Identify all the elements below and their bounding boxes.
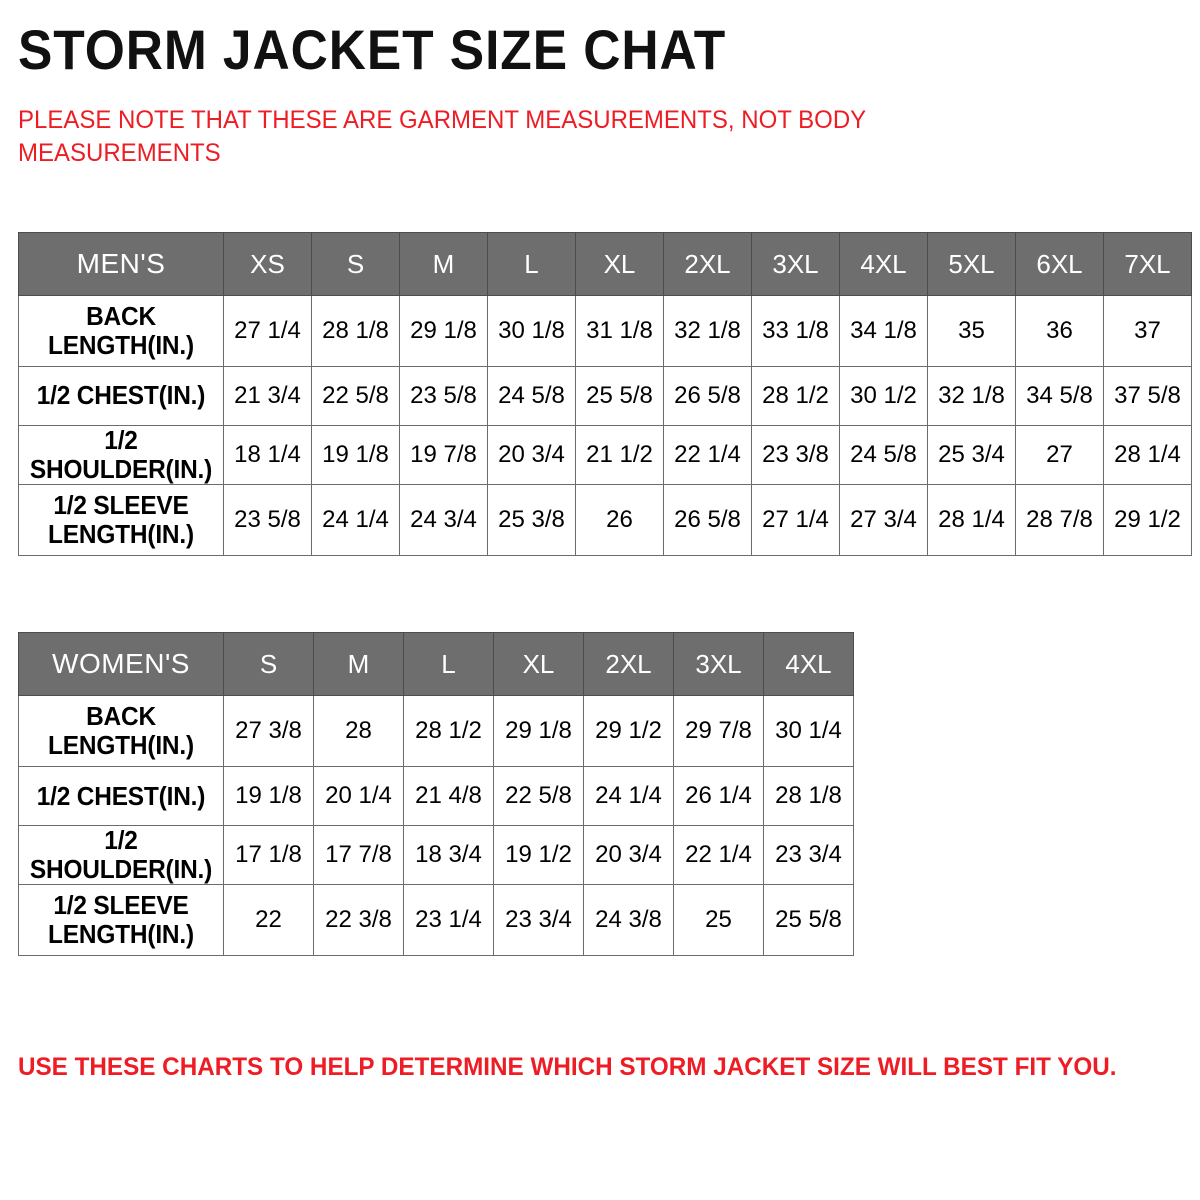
mens-cell-l: 25 3/8 [488,485,576,556]
mens-row-label: 1/2 SLEEVELENGTH(IN.) [19,485,224,556]
mens-cell-l: 24 5/8 [488,367,576,426]
mens-cell-3xl: 28 1/2 [752,367,840,426]
mens-size-header-7xl: 7XL [1104,233,1192,296]
row-label-line: LENGTH(IN.) [25,920,217,949]
womens-cell-l: 18 3/4 [404,826,494,885]
womens-cell-xl: 29 1/8 [494,696,584,767]
womens-table-row: 1/2 SLEEVELENGTH(IN.)2222 3/823 1/423 3/… [19,885,854,956]
row-label-line: LENGTH(IN.) [25,731,217,760]
womens-cell-s: 22 [224,885,314,956]
womens-cell-4xl: 25 5/8 [764,885,854,956]
mens-cell-m: 24 3/4 [400,485,488,556]
mens-size-header-m: M [400,233,488,296]
row-label-line: 1/2 SHOULDER(IN.) [25,426,217,484]
womens-cell-m: 17 7/8 [314,826,404,885]
womens-cell-3xl: 29 7/8 [674,696,764,767]
womens-table-head: WOMEN'SSMLXL2XL3XL4XL [19,633,854,696]
mens-cell-6xl: 28 7/8 [1016,485,1104,556]
mens-row-label: 1/2 CHEST(IN.) [19,367,224,426]
womens-cell-xl: 19 1/2 [494,826,584,885]
row-label-line: LENGTH(IN.) [25,520,217,549]
mens-cell-4xl: 24 5/8 [840,426,928,485]
mens-size-header-4xl: 4XL [840,233,928,296]
mens-cell-2xl: 26 5/8 [664,485,752,556]
mens-cell-xl: 25 5/8 [576,367,664,426]
womens-cell-s: 17 1/8 [224,826,314,885]
row-label-line: 1/2 SLEEVE [25,491,217,520]
womens-table-row: 1/2 SHOULDER(IN.)17 1/817 7/818 3/419 1/… [19,826,854,885]
mens-cell-s: 24 1/4 [312,485,400,556]
mens-cell-7xl: 37 [1104,296,1192,367]
womens-cell-4xl: 28 1/8 [764,767,854,826]
womens-row-label: 1/2 SHOULDER(IN.) [19,826,224,885]
mens-cell-xl: 26 [576,485,664,556]
womens-cell-s: 19 1/8 [224,767,314,826]
womens-cell-xl: 23 3/4 [494,885,584,956]
mens-cell-3xl: 27 1/4 [752,485,840,556]
mens-table-row: 1/2 SLEEVELENGTH(IN.)23 5/824 1/424 3/42… [19,485,1192,556]
mens-cell-5xl: 35 [928,296,1016,367]
mens-cell-s: 22 5/8 [312,367,400,426]
womens-table-corner-header: WOMEN'S [19,633,224,696]
mens-cell-2xl: 22 1/4 [664,426,752,485]
womens-table-row: 1/2 CHEST(IN.)19 1/820 1/421 4/822 5/824… [19,767,854,826]
mens-cell-4xl: 27 3/4 [840,485,928,556]
mens-table-row: 1/2 SHOULDER(IN.)18 1/419 1/819 7/820 3/… [19,426,1192,485]
mens-cell-4xl: 30 1/2 [840,367,928,426]
mens-table-body: BACKLENGTH(IN.)27 1/428 1/829 1/830 1/83… [19,296,1192,556]
page-title: STORM JACKET SIZE CHAT [18,0,1089,78]
womens-size-header-4xl: 4XL [764,633,854,696]
mens-cell-l: 20 3/4 [488,426,576,485]
mens-size-table: MEN'SXSSMLXL2XL3XL4XL5XL6XL7XL BACKLENGT… [18,232,1192,556]
mens-cell-2xl: 32 1/8 [664,296,752,367]
mens-cell-m: 23 5/8 [400,367,488,426]
mens-cell-6xl: 27 [1016,426,1104,485]
mens-cell-5xl: 28 1/4 [928,485,1016,556]
womens-cell-2xl: 29 1/2 [584,696,674,767]
mens-cell-6xl: 36 [1016,296,1104,367]
size-chart-page: STORM JACKET SIZE CHAT PLEASE NOTE THAT … [0,0,1200,1200]
mens-size-header-2xl: 2XL [664,233,752,296]
womens-cell-2xl: 24 3/8 [584,885,674,956]
womens-size-header-m: M [314,633,404,696]
womens-row-label: BACKLENGTH(IN.) [19,696,224,767]
mens-cell-s: 28 1/8 [312,296,400,367]
mens-size-header-6xl: 6XL [1016,233,1104,296]
womens-cell-3xl: 25 [674,885,764,956]
mens-size-header-l: L [488,233,576,296]
womens-cell-3xl: 26 1/4 [674,767,764,826]
row-label-line: BACK [25,702,217,731]
womens-row-label: 1/2 SLEEVELENGTH(IN.) [19,885,224,956]
mens-cell-4xl: 34 1/8 [840,296,928,367]
mens-cell-7xl: 37 5/8 [1104,367,1192,426]
womens-cell-2xl: 24 1/4 [584,767,674,826]
womens-cell-xl: 22 5/8 [494,767,584,826]
womens-size-table: WOMEN'SSMLXL2XL3XL4XL BACKLENGTH(IN.)27 … [18,632,854,956]
mens-cell-s: 19 1/8 [312,426,400,485]
mens-size-header-3xl: 3XL [752,233,840,296]
womens-cell-2xl: 20 3/4 [584,826,674,885]
womens-size-header-2xl: 2XL [584,633,674,696]
mens-size-header-xs: XS [224,233,312,296]
mens-table-head: MEN'SXSSMLXL2XL3XL4XL5XL6XL7XL [19,233,1192,296]
mens-cell-xs: 27 1/4 [224,296,312,367]
mens-cell-l: 30 1/8 [488,296,576,367]
mens-cell-m: 29 1/8 [400,296,488,367]
womens-cell-s: 27 3/8 [224,696,314,767]
womens-size-header-3xl: 3XL [674,633,764,696]
womens-cell-m: 22 3/8 [314,885,404,956]
mens-size-header-s: S [312,233,400,296]
womens-row-label: 1/2 CHEST(IN.) [19,767,224,826]
garment-measurement-note: PLEASE NOTE THAT THESE ARE GARMENT MEASU… [18,78,940,170]
row-label-line: 1/2 SHOULDER(IN.) [25,826,217,884]
mens-cell-m: 19 7/8 [400,426,488,485]
mens-cell-xs: 21 3/4 [224,367,312,426]
row-label-line: LENGTH(IN.) [25,331,217,360]
mens-cell-6xl: 34 5/8 [1016,367,1104,426]
mens-header-row: MEN'SXSSMLXL2XL3XL4XL5XL6XL7XL [19,233,1192,296]
mens-cell-3xl: 23 3/8 [752,426,840,485]
womens-cell-4xl: 23 3/4 [764,826,854,885]
mens-cell-2xl: 26 5/8 [664,367,752,426]
chart-usage-note: USE THESE CHARTS TO HELP DETERMINE WHICH… [18,1052,1117,1082]
mens-table-corner-header: MEN'S [19,233,224,296]
mens-table-row: BACKLENGTH(IN.)27 1/428 1/829 1/830 1/83… [19,296,1192,367]
mens-table-row: 1/2 CHEST(IN.)21 3/422 5/823 5/824 5/825… [19,367,1192,426]
row-label-line: 1/2 CHEST(IN.) [25,381,217,410]
mens-cell-5xl: 32 1/8 [928,367,1016,426]
mens-cell-xl: 21 1/2 [576,426,664,485]
womens-cell-m: 28 [314,696,404,767]
womens-table-body: BACKLENGTH(IN.)27 3/82828 1/229 1/829 1/… [19,696,854,956]
mens-row-label: BACKLENGTH(IN.) [19,296,224,367]
womens-cell-3xl: 22 1/4 [674,826,764,885]
womens-size-header-l: L [404,633,494,696]
womens-cell-4xl: 30 1/4 [764,696,854,767]
mens-size-header-xl: XL [576,233,664,296]
mens-row-label: 1/2 SHOULDER(IN.) [19,426,224,485]
row-label-line: BACK [25,302,217,331]
womens-cell-l: 28 1/2 [404,696,494,767]
mens-cell-7xl: 29 1/2 [1104,485,1192,556]
womens-size-header-xl: XL [494,633,584,696]
womens-cell-m: 20 1/4 [314,767,404,826]
womens-size-header-s: S [224,633,314,696]
row-label-line: 1/2 CHEST(IN.) [25,782,217,811]
womens-cell-l: 21 4/8 [404,767,494,826]
row-label-line: 1/2 SLEEVE [25,891,217,920]
mens-cell-xl: 31 1/8 [576,296,664,367]
womens-cell-l: 23 1/4 [404,885,494,956]
mens-cell-xs: 18 1/4 [224,426,312,485]
mens-size-header-5xl: 5XL [928,233,1016,296]
mens-cell-3xl: 33 1/8 [752,296,840,367]
womens-table-row: BACKLENGTH(IN.)27 3/82828 1/229 1/829 1/… [19,696,854,767]
womens-header-row: WOMEN'SSMLXL2XL3XL4XL [19,633,854,696]
mens-cell-5xl: 25 3/4 [928,426,1016,485]
mens-cell-7xl: 28 1/4 [1104,426,1192,485]
mens-cell-xs: 23 5/8 [224,485,312,556]
